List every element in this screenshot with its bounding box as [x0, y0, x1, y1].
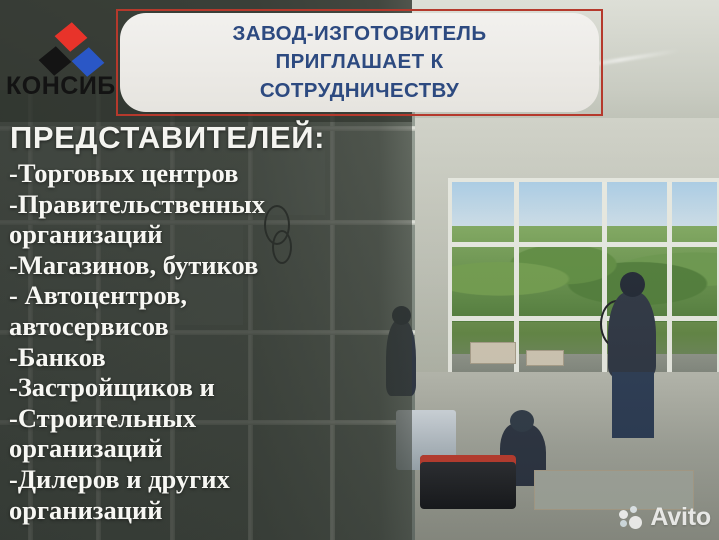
headline-banner-text: ЗАВОД-ИЗГОТОВИТЕЛЬ ПРИГЛАШАЕТ К СОТРУДНИ… [233, 20, 487, 104]
list-item: -Застройщиков и [9, 372, 409, 403]
list-item: -Строительных организаций [9, 403, 409, 464]
list-item: - Автоцентров, автосервисов [9, 280, 409, 341]
advertisement-poster: КОНСИБ ® ЗАВОД-ИЗГОТОВИТЕЛЬ ПРИГЛАШАЕТ К… [0, 0, 719, 540]
avito-watermark: Avito [619, 503, 711, 532]
list-item: -Правительственных организаций [9, 189, 409, 250]
list-item: -Дилеров и других организаций [9, 464, 409, 525]
avito-label: Avito [650, 503, 711, 532]
brand-name: КОНСИБ [6, 72, 116, 101]
logo-diamond-red-icon [55, 22, 88, 51]
list-item: -Торговых центров [9, 158, 409, 189]
list-item: -Магазинов, бутиков [9, 250, 409, 281]
list-item: -Банков [9, 342, 409, 373]
avito-logo-icon [619, 506, 645, 530]
representatives-list: -Торговых центров -Правительственных орг… [9, 158, 409, 525]
registered-trademark-icon: ® [108, 68, 115, 78]
headline-banner: ЗАВОД-ИЗГОТОВИТЕЛЬ ПРИГЛАШАЕТ К СОТРУДНИ… [120, 13, 599, 112]
page-title: ПРЕДСТАВИТЕЛЕЙ: [10, 120, 325, 156]
